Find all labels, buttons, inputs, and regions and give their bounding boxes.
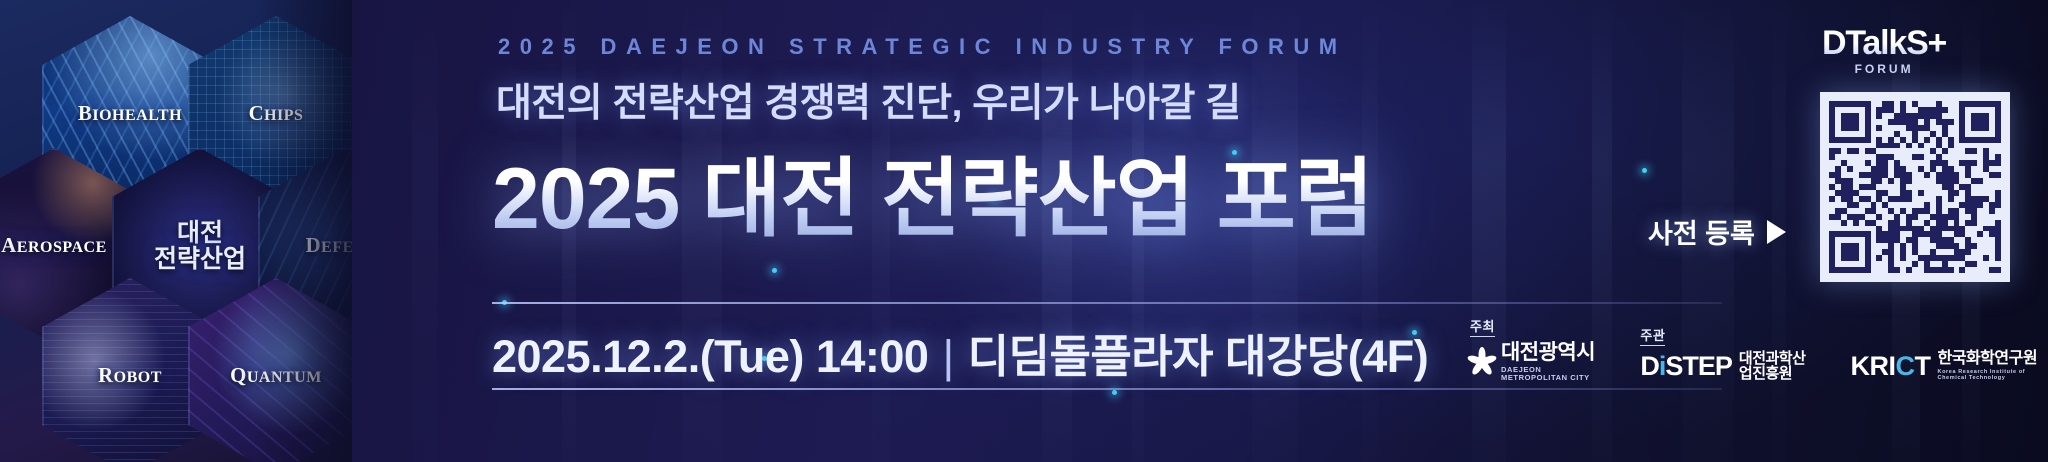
hex-initial: A (1, 234, 17, 257)
hex-label-aerospace: AEROSPACE (1, 235, 106, 257)
organizer-wordmark: 대전광역시 DAEJEON METROPOLITAN CITY (1501, 342, 1606, 381)
organizer-host: 주최 대전광역시 DAEJEON METROPOLITAN CITY (1470, 316, 1606, 381)
banner-content: 2025 DAEJEON STRATEGIC INDUSTRY FORUM 대전… (352, 0, 2048, 462)
organizer-logos: 주최 대전광역시 DAEJEON METROPOLITAN CITY 주관 Di… (1470, 316, 2048, 381)
organizer-logo-row: KRICT 한국화학연구원 Korea Research Institute o… (1851, 351, 2048, 381)
hex-rest: IOHEALTH (92, 107, 182, 124)
qr-code-matrix (1829, 101, 2001, 273)
dtalks-wordmark: DTalkS+ (1822, 26, 1946, 60)
pre-registration-cta[interactable]: 사전 등록 (1648, 212, 1786, 251)
daejeon-city-mark-icon (1470, 347, 1494, 377)
glow-dot (1642, 168, 1647, 173)
hex-rest: OBOT (114, 369, 162, 386)
organizer-name-ko: 한국화학연구원 (1938, 351, 2048, 367)
center-line-2: 전략산업 (154, 245, 246, 273)
banner-eyebrow: 2025 DAEJEON STRATEGIC INDUSTRY FORUM (498, 34, 1347, 60)
organizer-operator: 주관 DiSTEP 대전과학산업진흥원 (1640, 325, 1816, 381)
hex-label-center: 대전 전략산업 (154, 220, 246, 273)
industry-hex-collage: BIOHEALTH CHIPS AEROSPACE 대전 전략산업 DEFENS… (0, 0, 352, 462)
dtalks-logo: DTalkS+ FORUM (1822, 26, 1946, 76)
play-triangle-icon (1767, 220, 1786, 244)
hex-label-defense: DEFENSE (306, 235, 352, 257)
hex-initial: C (249, 102, 265, 125)
glow-dot (1112, 390, 1117, 395)
event-banner: BIOHEALTH CHIPS AEROSPACE 대전 전략산업 DEFENS… (0, 0, 2048, 462)
text-separator: | (942, 331, 953, 382)
organizer-name-ko: 대전과학산업진흥원 (1739, 351, 1817, 381)
organizer-name-en: Korea Research Institute of Chemical Tec… (1938, 370, 2048, 381)
hex-rest: EROSPACE (17, 239, 107, 256)
organizer-logo-row: DiSTEP 대전과학산업진흥원 (1640, 351, 1816, 381)
glow-dot (772, 268, 777, 273)
organizer-name-en: DAEJEON METROPOLITAN CITY (1501, 366, 1606, 381)
divider-top (492, 302, 1722, 304)
divider-bottom (492, 388, 1722, 390)
organizer-name-ko: 대전광역시 (1501, 342, 1606, 363)
pre-registration-label: 사전 등록 (1648, 212, 1755, 251)
organizer-role-label: 주관 (1640, 325, 1665, 346)
organizer-wordmark: 한국화학연구원 Korea Research Institute of Chem… (1938, 351, 2048, 381)
banner-subtitle: 대전의 전략산업 경쟁력 진단, 우리가 나아갈 길 (496, 72, 1241, 128)
hex-rest: UANTUM (247, 369, 322, 386)
center-line-1: 대전 (177, 219, 223, 247)
page-title: 2025 대전 전략산업 포럼 (492, 128, 1373, 253)
organizer-logo-row: 대전광역시 DAEJEON METROPOLITAN CITY (1470, 342, 1606, 381)
hex-initial: R (98, 364, 114, 387)
hex-label-robot: ROBOT (98, 365, 162, 387)
hex-label-quantum: QUANTUM (230, 365, 322, 387)
event-datetime-venue: 2025.12.2.(Tue) 14:00|디딤돌플라자 대강당(4F) (492, 320, 1428, 385)
dtalks-sublabel: FORUM (1822, 62, 1946, 76)
hex-rest: EFENSE (321, 239, 352, 256)
hex-initial: Q (230, 364, 247, 387)
hex-initial: B (78, 102, 92, 125)
qr-code[interactable] (1820, 92, 2010, 282)
event-date: 2025.12.2.(Tue) 14:00 (492, 331, 928, 382)
hex-initial: D (306, 234, 322, 257)
distep-wordmark-icon: DiSTEP (1640, 353, 1732, 380)
krict-wordmark-icon: KRICT (1851, 353, 1931, 380)
hex-label-chips: CHIPS (249, 103, 304, 125)
organizer-role-label: 주최 (1470, 316, 1495, 337)
hex-rest: HIPS (264, 107, 303, 124)
hex-label-biohealth: BIOHEALTH (78, 103, 182, 125)
organizer-krict: KRICT 한국화학연구원 Korea Research Institute o… (1851, 351, 2048, 381)
event-venue: 디딤돌플라자 대강당(4F) (968, 331, 1429, 382)
